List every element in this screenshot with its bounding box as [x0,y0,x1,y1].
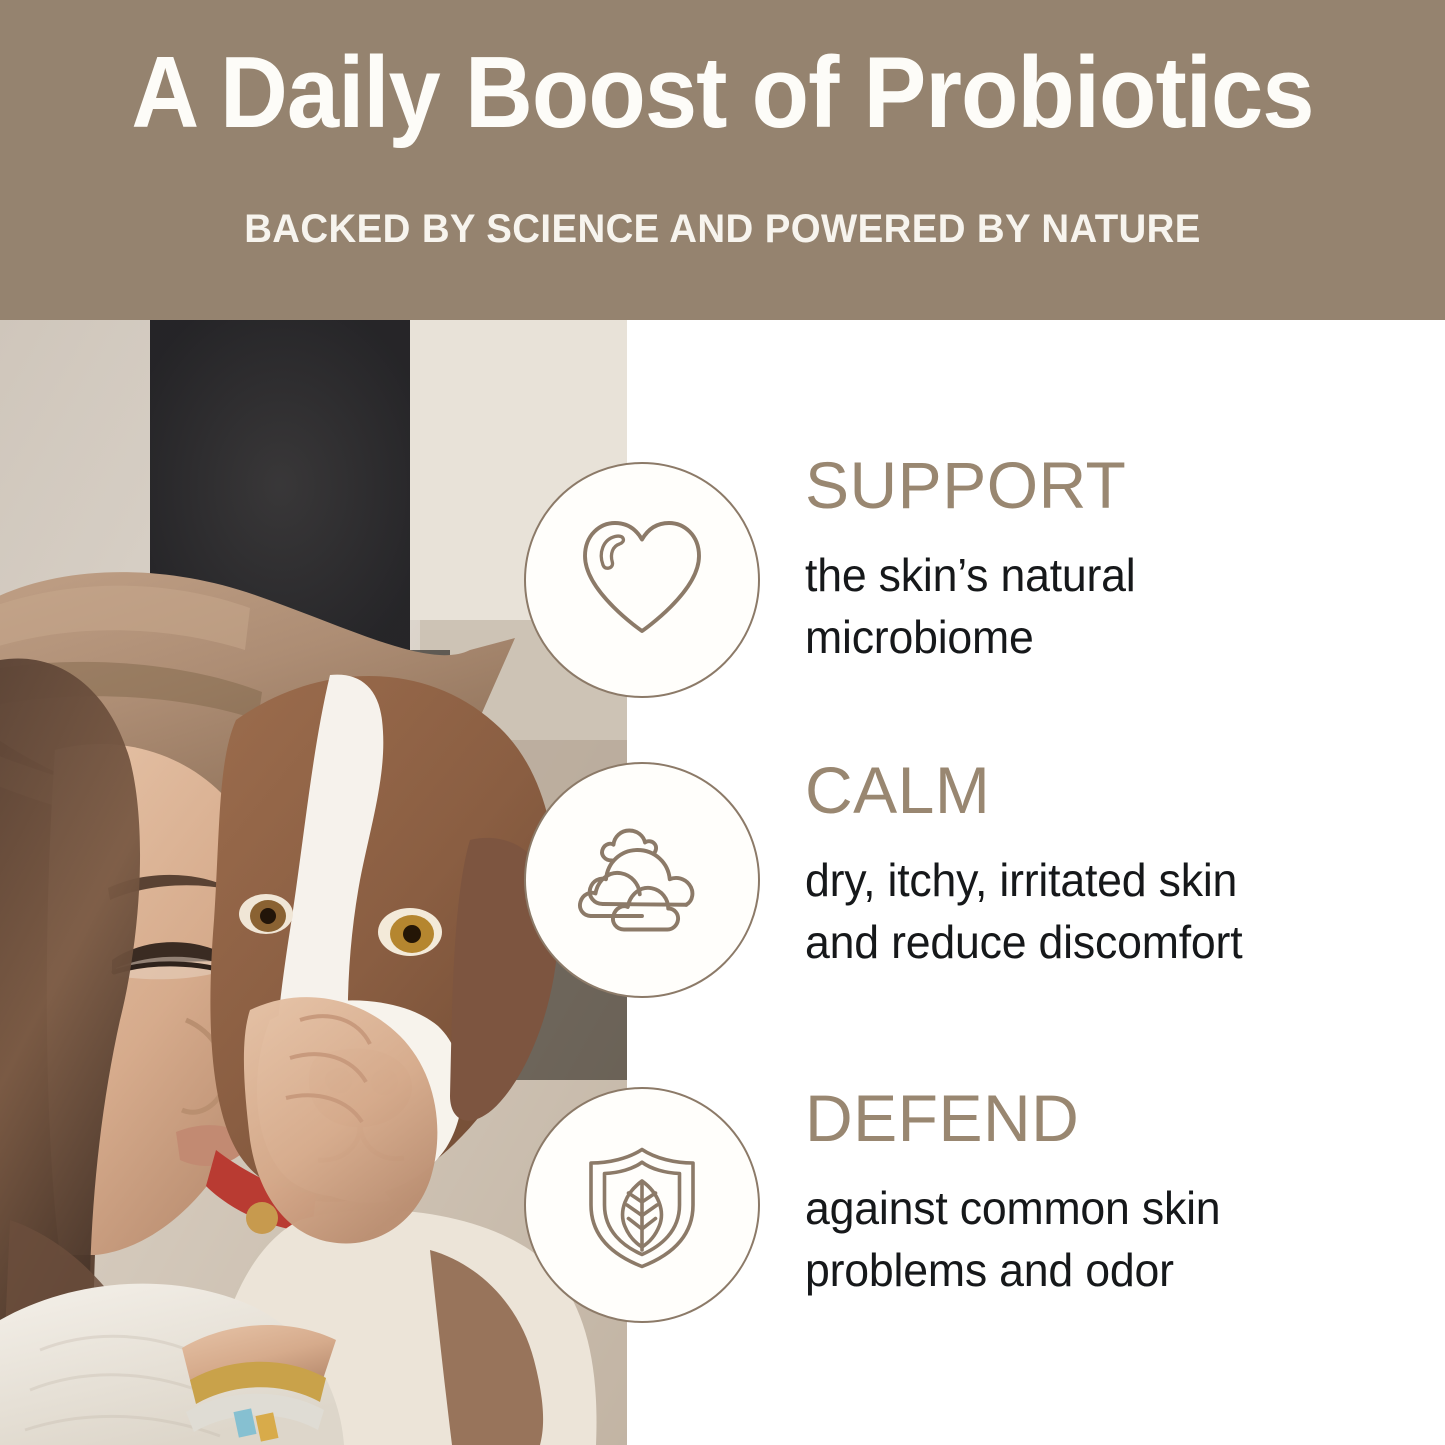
shield-leaf-icon-badge [524,1087,760,1323]
shield-leaf-icon [567,1130,717,1280]
heart-icon [567,505,717,655]
benefit-body-line: microbiome [805,606,1136,668]
benefit-body-line: the skin’s natural [805,544,1136,606]
benefit-body: against common skin problems and odor [805,1177,1220,1301]
benefit-heading: SUPPORT [805,452,1146,518]
benefit-body-line: against common skin [805,1177,1220,1239]
page-title: A Daily Boost of Probiotics [51,38,1395,148]
benefit-body-line: dry, itchy, irritated skin [805,849,1242,911]
benefit-body: dry, itchy, irritated skin and reduce di… [805,849,1242,973]
benefit-row-defend: DEFEND against common skin problems and … [0,0,1445,1]
clouds-icon-badge [524,762,760,998]
benefit-body-line: problems and odor [805,1239,1220,1301]
benefit-body: the skin’s natural microbiome [805,544,1136,668]
promo-graphic: A Daily Boost of Probiotics BACKED BY SC… [0,0,1445,1445]
benefit-heading: DEFEND [805,1085,1233,1151]
heart-icon-badge [524,462,760,698]
benefit-heading: CALM [805,757,1256,823]
page-subtitle: BACKED BY SCIENCE AND POWERED BY NATURE [29,205,1416,253]
benefit-body-line: and reduce discomfort [805,911,1242,973]
benefit-text-support: SUPPORT the skin’s natural microbiome [805,452,1146,668]
benefit-text-defend: DEFEND against common skin problems and … [805,1085,1233,1301]
benefit-text-calm: CALM dry, itchy, irritated skin and redu… [805,757,1256,973]
clouds-icon [567,805,717,955]
header-banner: A Daily Boost of Probiotics BACKED BY SC… [0,0,1445,320]
